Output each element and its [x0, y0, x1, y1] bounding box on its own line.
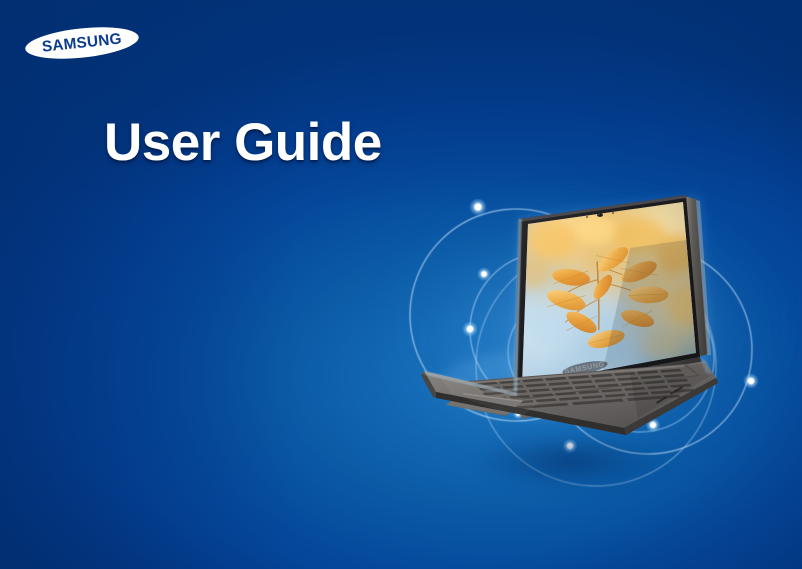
background-left-fade [0, 0, 300, 569]
page-title: User Guide [104, 112, 382, 173]
laptop-illustration: SAMSUNG [400, 178, 720, 446]
samsung-logo: SAMSUNG [24, 26, 140, 60]
user-guide-cover-page: SAMSUNG [0, 0, 802, 569]
